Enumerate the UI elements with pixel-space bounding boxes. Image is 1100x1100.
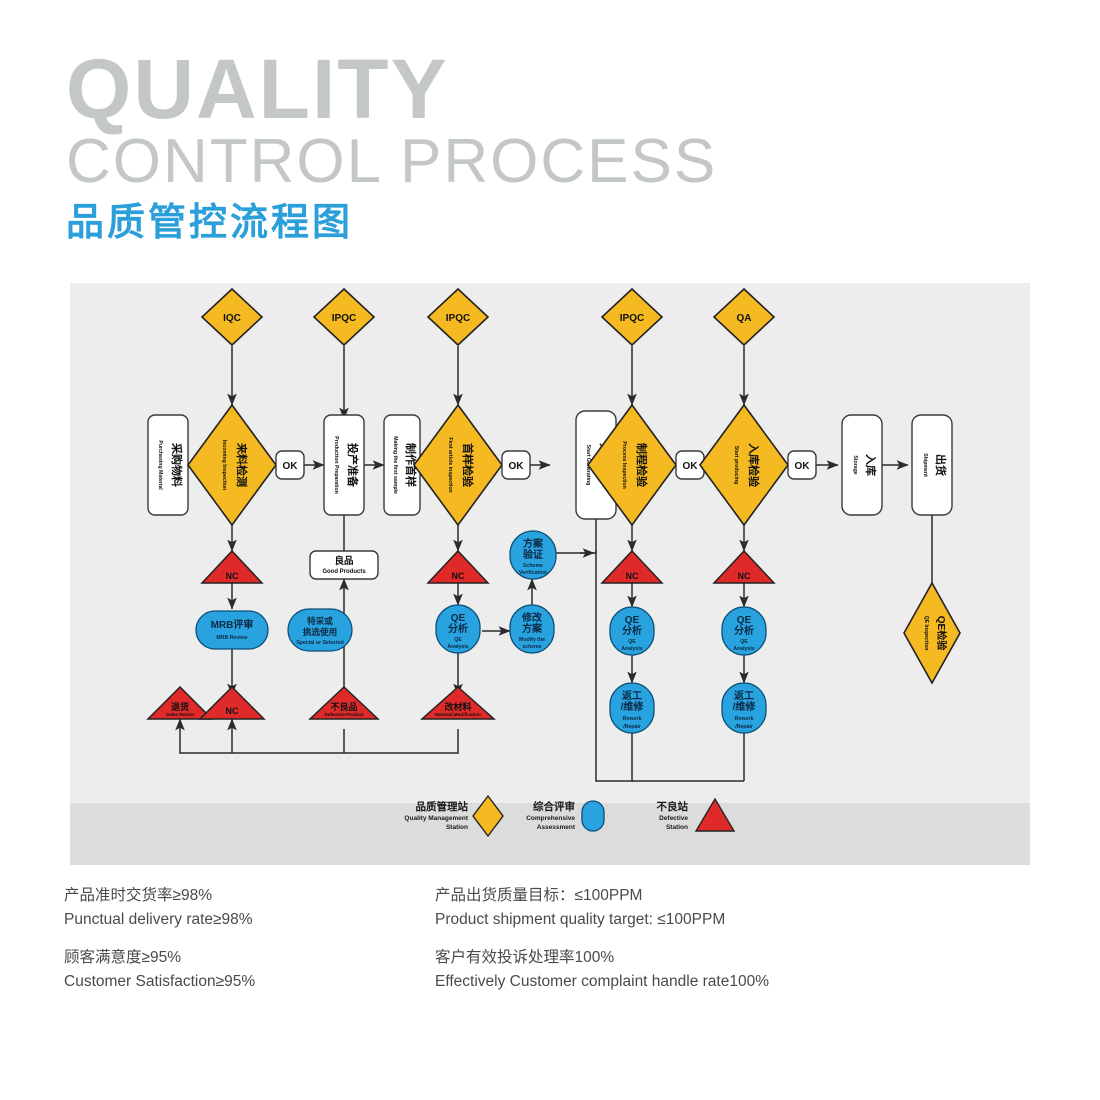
- node-sales-return-en: Sales Return: [166, 712, 194, 717]
- station-ipqc-3[interactable]: IPQC: [602, 289, 662, 345]
- node-storage-en: Storage: [852, 455, 858, 474]
- legend-ca-cn: 综合评审: [533, 800, 575, 813]
- node-mrb-review[interactable]: MRB评审 MRB Review: [196, 611, 268, 649]
- node-incoming-inspection[interactable]: 来料检测 Incoming Inspection: [188, 405, 276, 525]
- node-modify-the-scheme[interactable]: 修改 方案 Modify the scheme: [510, 605, 554, 653]
- node-qe-analysis-2-cn-1: QE: [625, 615, 640, 626]
- page-header: QUALITY CONTROL PROCESS 品质管控流程图: [66, 48, 717, 242]
- node-special-or-selected-en: Special or Selected: [296, 640, 344, 646]
- title-control-process: CONTROL PROCESS: [66, 130, 717, 193]
- node-nc-first-article[interactable]: NC: [428, 551, 488, 583]
- node-modify-the-scheme-cn-1: 修改: [521, 611, 543, 624]
- node-defective-product-cn: 不良品: [330, 701, 357, 712]
- node-rework-repair-2[interactable]: 返工 /维修 Rework /Repair: [722, 683, 766, 733]
- legend-comprehensive-assessment: 综合评审 Comprehensive Assessment: [526, 800, 604, 831]
- node-modify-the-scheme-cn-2: 方案: [522, 622, 543, 635]
- node-special-or-selected[interactable]: 特采或 挑选使用 Special or Selected: [288, 609, 352, 651]
- node-material-modification[interactable]: 改材料 Material Modification: [422, 687, 494, 719]
- station-iqc-label: IQC: [223, 313, 241, 324]
- node-qe-inspection-cn: QE检验: [935, 616, 948, 651]
- node-qe-analysis-1-en-1: QE: [454, 637, 462, 643]
- node-special-or-selected-cn-2: 挑选使用: [303, 626, 337, 637]
- node-production-preparation-cn: 投产准备: [346, 443, 360, 488]
- node-sales-return-cn: 退货: [171, 701, 189, 712]
- legend-qms-cn: 品质管理站: [416, 800, 469, 813]
- node-qe-analysis-3[interactable]: QE 分析 QE Analysis: [722, 607, 766, 655]
- node-ok-2-label: OK: [509, 461, 525, 472]
- title-chinese: 品质管控流程图: [66, 204, 717, 242]
- station-ipqc-2[interactable]: IPQC: [428, 289, 488, 345]
- node-rework-repair-2-en-2: /Repair: [735, 724, 753, 730]
- node-ok-3-label: OK: [683, 461, 699, 472]
- node-scheme-verification-en-1: Scheme: [523, 563, 543, 569]
- node-defective-product-en: Defective Product: [324, 712, 364, 717]
- node-mrb-review-en: MRB Review: [216, 635, 248, 641]
- node-mrb-review-cn: MRB评审: [211, 618, 254, 631]
- legend-defective-station: 不良站 Defective Station: [657, 799, 735, 831]
- node-nc-first-article-label: NC: [452, 571, 465, 581]
- legend-triangle-icon: [696, 799, 734, 831]
- node-making-first-sample-en: Making the first sample: [392, 436, 398, 494]
- kpi-punctual-delivery: 产品准时交货率≥98% Punctual delivery rate≥98%: [64, 884, 253, 932]
- node-storage-cn: 入库: [864, 454, 878, 476]
- kpi-shipment-quality: 产品出货质量目标：≤100PPM Product shipment qualit…: [435, 884, 725, 932]
- node-rework-repair-2-en-1: Rework: [735, 716, 754, 722]
- node-nc-mrb-label: NC: [226, 706, 239, 716]
- station-ipqc-1[interactable]: IPQC: [314, 289, 374, 345]
- connector-group: [180, 346, 932, 738]
- node-first-article-inspection-cn: 首样检验: [461, 443, 475, 488]
- node-defective-product[interactable]: 不良品 Defective Product: [310, 687, 378, 719]
- legend-quality-management-station: 品质管理站 Quality Management Station: [404, 796, 503, 836]
- node-purchasing[interactable]: 采购物料 Purchasing Material: [148, 415, 188, 515]
- node-shipment[interactable]: 出货 Shipment: [912, 415, 952, 515]
- node-good-products[interactable]: 良品 Good Products: [310, 551, 378, 579]
- node-qe-analysis-2-cn-2: 分析: [622, 624, 642, 637]
- node-purchasing-en: Purchasing Material: [157, 440, 163, 490]
- node-scheme-verification[interactable]: 方案 验证 Scheme Verification: [510, 531, 556, 579]
- node-first-article-inspection-en: First article inspection: [447, 437, 453, 492]
- node-incoming-inspection-cn: 来料检测: [235, 442, 249, 487]
- node-qe-analysis-1-cn-1: QE: [451, 613, 466, 624]
- node-material-modification-cn: 改材料: [444, 701, 471, 712]
- node-modify-the-scheme-en-1: Modify the: [519, 637, 545, 643]
- station-ipqc-1-label: IPQC: [332, 313, 356, 324]
- node-qe-analysis-2[interactable]: QE 分析 QE Analysis: [610, 607, 654, 655]
- station-qa-label: QA: [737, 313, 752, 324]
- node-process-inspection-en: Process Inspection: [621, 441, 627, 489]
- kpi-shipment-quality-cn: 产品出货质量目标：≤100PPM: [435, 884, 725, 908]
- node-qe-analysis-3-cn-1: QE: [737, 615, 752, 626]
- node-sales-return[interactable]: 退货 Sales Return: [148, 687, 212, 719]
- kpi-complaint-handle: 客户有效投诉处理率100% Effectively Customer compl…: [435, 946, 769, 994]
- node-production-preparation-en: Production Preparation: [333, 436, 339, 494]
- node-storage[interactable]: 入库 Storage: [842, 415, 882, 515]
- node-rework-repair-1[interactable]: 返工 /维修 Rework /Repair: [610, 683, 654, 733]
- node-qe-inspection-en: QE Inspection: [923, 616, 929, 651]
- node-rework-repair-1-en-2: /Repair: [623, 724, 641, 730]
- top-station-row: IQC IPQC IPQC IPQC QA: [202, 289, 774, 345]
- flowchart: IQC IPQC IPQC IPQC QA 采购物料 Pu: [70, 283, 1030, 865]
- node-scheme-verification-cn-1: 方案: [523, 537, 544, 550]
- node-nc-storage-label: NC: [738, 571, 751, 581]
- kpi-customer-satisfaction-en: Customer Satisfaction≥95%: [64, 970, 255, 994]
- node-nc-storage[interactable]: NC: [714, 551, 774, 583]
- node-rework-repair-2-cn-2: /维修: [733, 700, 757, 713]
- node-qe-analysis-1[interactable]: QE 分析 QE Analysis: [436, 605, 480, 653]
- node-ok-4-label: OK: [795, 461, 811, 472]
- node-qe-analysis-1-en-2: Analysis: [447, 644, 468, 650]
- node-special-or-selected-cn-1: 特采或: [307, 615, 333, 626]
- node-scheme-verification-cn-2: 验证: [523, 548, 543, 561]
- station-ipqc-2-label: IPQC: [446, 313, 470, 324]
- node-purchasing-cn: 采购物料: [170, 442, 184, 487]
- connector-plain-group: [180, 551, 744, 781]
- node-rework-repair-1-cn-2: /维修: [621, 700, 645, 713]
- title-quality: QUALITY: [66, 48, 717, 130]
- node-modify-the-scheme-en-2: scheme: [522, 644, 541, 650]
- node-production-preparation[interactable]: 投产准备 Production Preparation: [324, 415, 364, 515]
- node-ok-4[interactable]: OK: [788, 451, 816, 479]
- kpi-customer-satisfaction: 顾客满意度≥95% Customer Satisfaction≥95%: [64, 946, 255, 994]
- legend-qms-en-2: Station: [446, 824, 468, 831]
- node-rework-repair-1-en-1: Rework: [623, 716, 642, 722]
- station-qa[interactable]: QA: [714, 289, 774, 345]
- node-nc-process-label: NC: [626, 571, 639, 581]
- kpi-complaint-handle-cn: 客户有效投诉处理率100%: [435, 946, 769, 970]
- node-nc-mrb[interactable]: NC: [200, 687, 264, 719]
- node-ok-1[interactable]: OK: [276, 451, 304, 479]
- node-shipment-cn: 出货: [934, 454, 948, 476]
- legend-capsule-icon: [582, 801, 604, 831]
- node-qe-analysis-2-en-1: QE: [628, 639, 636, 645]
- node-process-inspection-cn: 制程检验: [635, 443, 649, 488]
- node-qe-analysis-3-en-1: QE: [740, 639, 748, 645]
- node-nc-incoming-label: NC: [226, 571, 239, 581]
- node-rework-repair-1-cn-1: 返工: [622, 689, 642, 702]
- node-qe-analysis-3-cn-2: 分析: [734, 624, 754, 637]
- node-storage-inspection[interactable]: 入库检验 Start producing: [700, 405, 788, 525]
- kpi-punctual-delivery-en: Punctual delivery rate≥98%: [64, 908, 253, 932]
- node-qe-analysis-2-en-2: Analysis: [621, 646, 642, 652]
- legend-ca-en-1: Comprehensive: [526, 815, 575, 822]
- node-nc-process[interactable]: NC: [602, 551, 662, 583]
- node-good-products-cn: 良品: [334, 555, 353, 567]
- kpi-customer-satisfaction-cn: 顾客满意度≥95%: [64, 946, 255, 970]
- kpi-shipment-quality-en: Product shipment quality target: ≤100PPM: [435, 908, 725, 932]
- legend-qms-en-1: Quality Management: [404, 815, 468, 822]
- station-ipqc-3-label: IPQC: [620, 313, 644, 324]
- legend-ds-en-2: Station: [666, 824, 688, 831]
- node-qe-inspection[interactable]: QE检验 QE Inspection: [904, 583, 960, 683]
- node-good-products-en: Good Products: [322, 569, 366, 575]
- node-material-modification-en: Material Modification: [435, 712, 481, 717]
- kpi-complaint-handle-en: Effectively Customer complaint handle ra…: [435, 970, 769, 994]
- node-incoming-inspection-en: Incoming Inspection: [221, 440, 227, 490]
- node-ok-2[interactable]: OK: [502, 451, 530, 479]
- node-storage-inspection-en: Start producing: [733, 446, 739, 485]
- legend-ds-cn: 不良站: [657, 800, 689, 813]
- node-shipment-en: Shipment: [922, 453, 928, 477]
- node-nc-incoming[interactable]: NC: [202, 551, 262, 583]
- node-storage-inspection-cn: 入库检验: [747, 443, 761, 488]
- node-ok-1-label: OK: [283, 461, 299, 472]
- node-rework-repair-2-cn-1: 返工: [734, 689, 754, 702]
- legend-ca-en-2: Assessment: [537, 824, 576, 831]
- kpi-punctual-delivery-cn: 产品准时交货率≥98%: [64, 884, 253, 908]
- node-scheme-verification-en-2: Verification: [519, 570, 547, 576]
- node-qe-analysis-1-cn-2: 分析: [448, 622, 468, 635]
- station-iqc[interactable]: IQC: [202, 289, 262, 345]
- node-qe-analysis-3-en-2: Analysis: [733, 646, 754, 652]
- legend-diamond-icon: [473, 796, 503, 836]
- node-first-article-inspection[interactable]: 首样检验 First article inspection: [414, 405, 502, 525]
- legend-ds-en-1: Defective: [659, 815, 688, 822]
